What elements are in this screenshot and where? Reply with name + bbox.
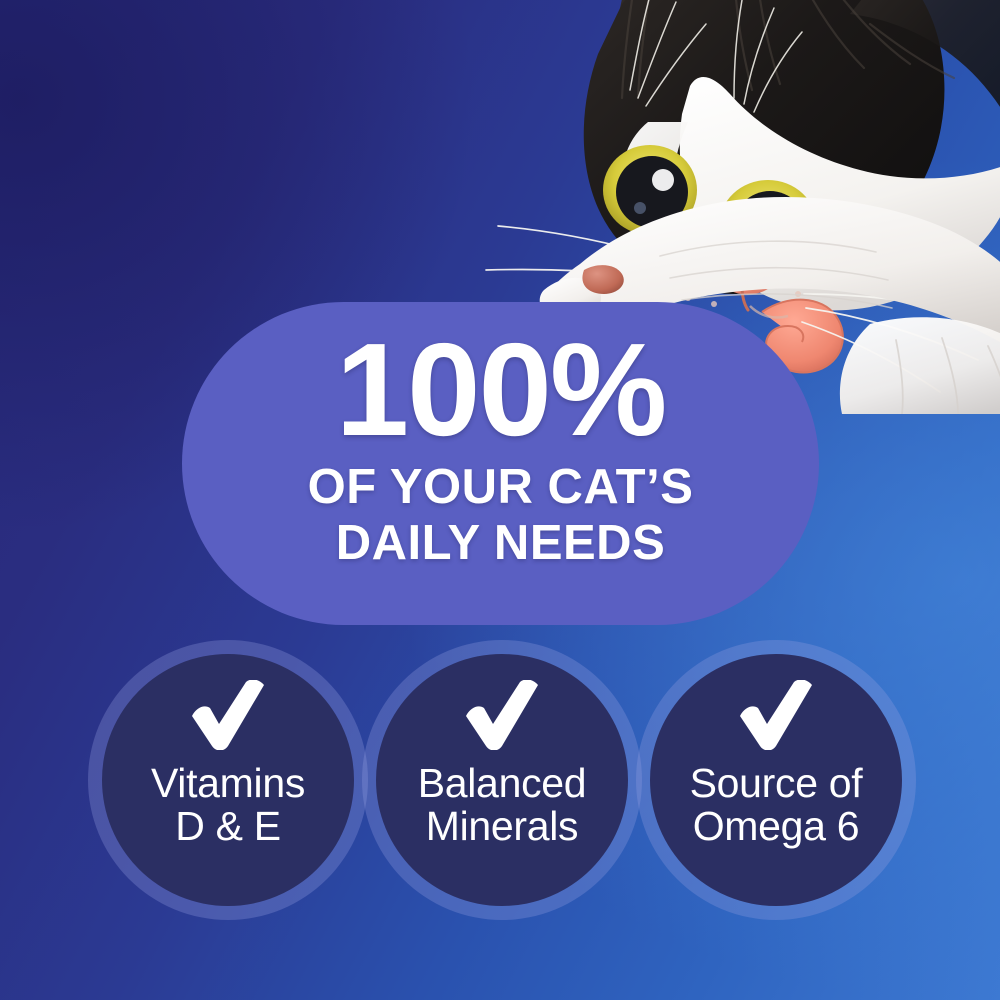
benefit-disc: Balanced Minerals (376, 654, 628, 906)
benefit-label: Balanced Minerals (418, 762, 587, 849)
benefit-label-line2: Omega 6 (690, 805, 863, 848)
benefit-label: Source of Omega 6 (690, 762, 863, 849)
benefit-circle-vitamins: Vitamins D & E (88, 640, 368, 920)
hero-claim-panel: 100% OF YOUR CAT’S DAILY NEEDS (182, 302, 819, 625)
check-icon (460, 680, 544, 750)
benefit-disc: Source of Omega 6 (650, 654, 902, 906)
hero-percent: 100% (336, 328, 666, 452)
benefit-disc: Vitamins D & E (102, 654, 354, 906)
benefit-circle-minerals: Balanced Minerals (362, 640, 642, 920)
benefit-label-line1: Vitamins (151, 760, 305, 806)
benefit-label-line1: Source of (690, 760, 863, 806)
benefit-label-line2: Minerals (418, 805, 587, 848)
hero-subtitle: OF YOUR CAT’S DAILY NEEDS (308, 460, 694, 572)
benefit-label: Vitamins D & E (151, 762, 305, 849)
promo-banner: 100% OF YOUR CAT’S DAILY NEEDS Vitamins … (0, 0, 1000, 1000)
hero-subtitle-line1: OF YOUR CAT’S (308, 460, 694, 514)
benefit-label-line2: D & E (151, 805, 305, 848)
benefit-circle-omega: Source of Omega 6 (636, 640, 916, 920)
check-icon (186, 680, 270, 750)
benefit-label-line1: Balanced (418, 760, 587, 806)
hero-subtitle-line2: DAILY NEEDS (308, 516, 694, 572)
benefit-circle-row: Vitamins D & E Balanced Minerals (0, 640, 1000, 940)
check-icon (734, 680, 818, 750)
